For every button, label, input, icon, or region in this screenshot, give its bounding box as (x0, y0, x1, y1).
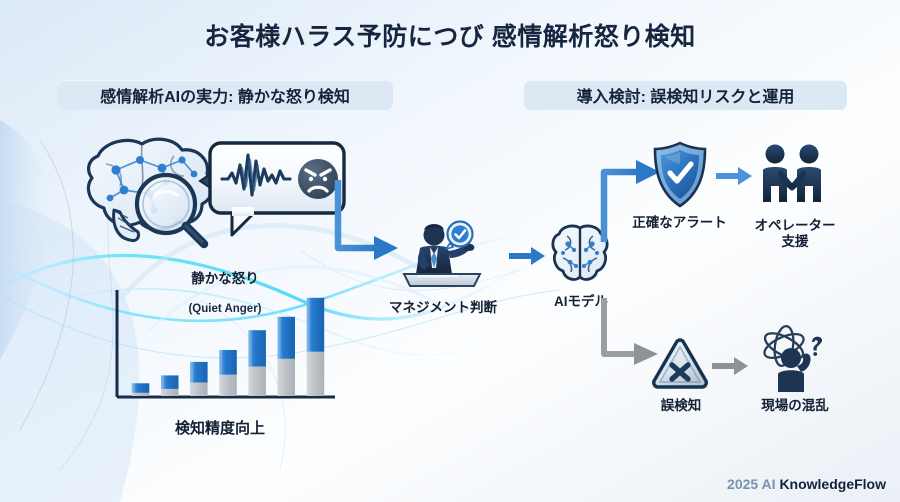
manager-desk-icon (398, 218, 486, 292)
accurate-alert-label: 正確なアラート (617, 215, 742, 231)
shield-check-icon (650, 140, 710, 210)
footer-year: 2025 AI (727, 476, 776, 492)
field-confusion-label: 現場の混乱 (739, 398, 851, 414)
bar-segment-base (278, 359, 296, 396)
chart-caption: 検知精度向上 (120, 420, 320, 438)
quiet-anger-ja: 静かな怒り (150, 271, 300, 287)
section-header-right: 導入検討: 誤検知リスクと運用 (524, 80, 847, 110)
management-decision-label: マネジメント判断 (382, 300, 504, 316)
bar-segment-base (161, 389, 179, 396)
arrow-alert-to-operator (716, 165, 754, 189)
footer-brand: 2025 AI KnowledgeFlow (727, 476, 886, 492)
bar-segment-base (190, 383, 208, 397)
accurate-alert-node (650, 140, 710, 210)
section-header-left: 感情解析AIの実力: 静かな怒り検知 (57, 80, 393, 110)
bar-highlight (307, 298, 310, 352)
operator-support-node (757, 142, 827, 208)
bar-segment-base (132, 393, 150, 396)
false-detection-label: 誤検知 (640, 398, 722, 414)
false-detection-node (651, 337, 709, 391)
operator-support-label: オペレーター 支援 (740, 218, 850, 250)
bar-highlight (278, 317, 281, 359)
arrow-manager-to-ai (509, 245, 547, 269)
warning-x-triangle-icon (651, 337, 709, 391)
speech-bubble-icon (198, 137, 350, 245)
bar-highlight (190, 362, 193, 383)
handshake-icon (757, 142, 827, 208)
bar-highlight (161, 375, 164, 389)
footer-brand-name: KnowledgeFlow (779, 476, 886, 492)
bar-segment-base (307, 352, 325, 396)
bar-highlight (248, 330, 251, 366)
speech-bubble-group (198, 137, 350, 245)
bar-segment-base (248, 367, 266, 396)
management-decision-node (398, 218, 486, 292)
field-confusion-node (754, 328, 828, 394)
page-title: お客様ハラス予防につび 感情解析怒り検知 (0, 17, 900, 53)
accuracy-bar-chart (104, 288, 336, 408)
bar-highlight (219, 350, 222, 375)
confused-person-icon (754, 328, 828, 394)
bar-segment-base (219, 375, 237, 396)
infographic-canvas: お客様ハラス予防につび 感情解析怒り検知 感情解析AIの実力: 静かな怒り検知 … (0, 0, 900, 502)
arrow-false-detection-to-confusion (712, 355, 750, 379)
bar-highlight (132, 383, 135, 393)
